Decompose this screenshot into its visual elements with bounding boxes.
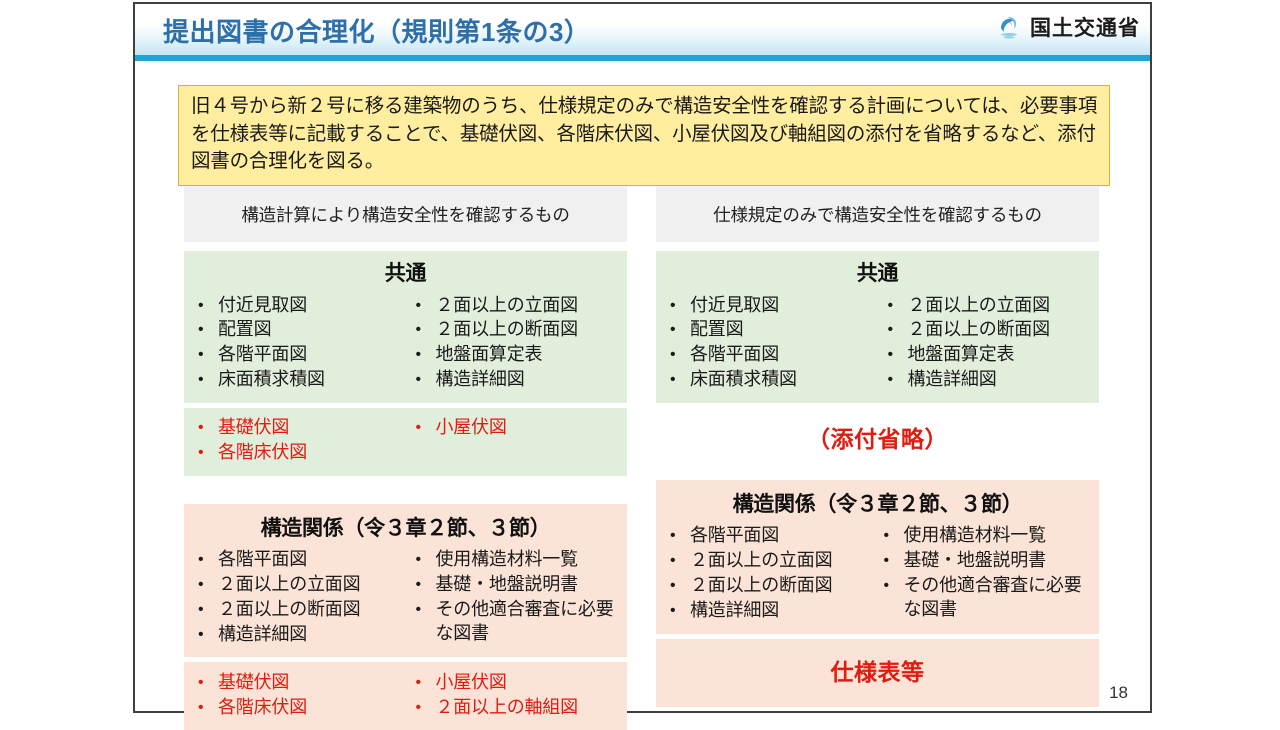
bullet-icon: •: [416, 294, 436, 317]
bullet-icon: •: [888, 318, 908, 341]
bullet-icon: •: [670, 524, 690, 547]
common-omitted-items-left: •基礎伏図 •各階床伏図: [184, 416, 406, 466]
list-item: •床面積求積図: [198, 368, 406, 393]
list-item: •その他適合審査に必要な図書: [416, 598, 628, 647]
mlit-logo-icon: [996, 14, 1022, 40]
common-block-title: 共通: [184, 251, 627, 289]
list-item: •その他適合審査に必要な図書: [884, 574, 1100, 623]
bullet-icon: •: [670, 549, 690, 572]
bullet-icon: •: [670, 294, 690, 317]
list-item: •２面以上の断面図: [670, 574, 878, 599]
common-items: •付近見取図 •配置図 •各階平面図 •床面積求積図 •２面以上の立面図 •２面…: [656, 289, 1099, 403]
common-block: 共通 •付近見取図 •配置図 •各階平面図 •床面積求積図 •２面以上の立面図 …: [656, 251, 1099, 403]
column-structural-calculation: 構造計算により構造安全性を確認するもの 共通 •付近見取図 •配置図 •各階平面…: [184, 186, 627, 730]
bullet-icon: •: [416, 343, 436, 366]
bullet-icon: •: [416, 416, 436, 439]
structure-items-right: •使用構造材料一覧 •基礎・地盤説明書 •その他適合審査に必要な図書: [406, 548, 628, 648]
spec-sheet-note: 仕様表等: [656, 653, 1099, 687]
bullet-icon: •: [888, 368, 908, 391]
header-accent-rule: [135, 55, 1150, 61]
list-item: •２面以上の立面図: [670, 549, 878, 574]
structure-items-left: •各階平面図 •２面以上の立面図 •２面以上の断面図 •構造詳細図: [184, 548, 406, 648]
common-omitted-items-right: •小屋伏図: [406, 416, 628, 466]
slide-canvas: 提出図書の合理化（規則第1条の3） 国土交通省 旧４号から新２号に移る建築物のう…: [133, 2, 1152, 713]
list-item: •基礎・地盤説明書: [884, 549, 1100, 574]
slide-body: 旧４号から新２号に移る建築物のうち、仕様規定のみで構造安全性を確認する計画につい…: [135, 62, 1150, 711]
omission-note: （添付省略）: [656, 420, 1099, 454]
bullet-icon: •: [888, 343, 908, 366]
page-title: 提出図書の合理化（規則第1条の3）: [163, 12, 590, 49]
list-item: •２面以上の立面図: [198, 573, 406, 598]
bullet-icon: •: [884, 549, 904, 572]
ministry-branding: 国土交通省: [996, 12, 1140, 42]
common-omitted-items: •基礎伏図 •各階床伏図 •小屋伏図: [184, 412, 627, 476]
list-item: •小屋伏図: [416, 416, 628, 441]
list-item: •２面以上の立面図: [888, 293, 1100, 318]
list-item: •２面以上の断面図: [888, 318, 1100, 343]
list-item: •各階床伏図: [198, 441, 406, 466]
bullet-icon: •: [198, 696, 218, 719]
common-items-left: •付近見取図 •配置図 •各階平面図 •床面積求積図: [656, 293, 878, 393]
bullet-icon: •: [670, 368, 690, 391]
structure-items-left: •各階平面図 •２面以上の立面図 •２面以上の断面図 •構造詳細図: [656, 524, 878, 624]
list-item: •使用構造材料一覧: [884, 524, 1100, 549]
list-item: •２面以上の断面図: [416, 318, 628, 343]
list-item: •構造詳細図: [670, 599, 878, 624]
bullet-icon: •: [198, 294, 218, 317]
list-item: •２面以上の立面図: [416, 293, 628, 318]
common-block-title: 共通: [656, 251, 1099, 289]
column-header: 仕様規定のみで構造安全性を確認するもの: [656, 186, 1099, 242]
bullet-icon: •: [884, 574, 904, 597]
list-item: •構造詳細図: [888, 368, 1100, 393]
bullet-icon: •: [198, 573, 218, 596]
common-block: 共通 •付近見取図 •配置図 •各階平面図 •床面積求積図 •２面以上の立面図 …: [184, 251, 627, 403]
structure-block-title: 構造関係（令３章２節、３節）: [656, 480, 1099, 520]
structure-omitted-items-right: •小屋伏図 •２面以上の軸組図: [406, 670, 628, 720]
bullet-icon: •: [198, 623, 218, 646]
bullet-icon: •: [198, 416, 218, 439]
ministry-name: 国土交通省: [1030, 12, 1140, 42]
bullet-icon: •: [416, 573, 436, 596]
list-item: •地盤面算定表: [888, 343, 1100, 368]
bullet-icon: •: [670, 318, 690, 341]
bullet-icon: •: [198, 441, 218, 464]
list-item: •各階床伏図: [198, 695, 406, 720]
column-header: 構造計算により構造安全性を確認するもの: [184, 186, 627, 242]
structure-items: •各階平面図 •２面以上の立面図 •２面以上の断面図 •構造詳細図 •使用構造材…: [184, 544, 627, 658]
common-omitted-block: •基礎伏図 •各階床伏図 •小屋伏図: [184, 408, 627, 476]
bullet-icon: •: [198, 318, 218, 341]
common-omission-note-block: （添付省略）: [656, 408, 1099, 468]
list-item: •地盤面算定表: [416, 343, 628, 368]
list-item: •構造詳細図: [416, 368, 628, 393]
bullet-icon: •: [198, 343, 218, 366]
bullet-icon: •: [198, 671, 218, 694]
bullet-icon: •: [888, 294, 908, 317]
common-items-left: •付近見取図 •配置図 •各階平面図 •床面積求積図: [184, 293, 406, 393]
structure-omitted-items: •基礎伏図 •各階床伏図 •小屋伏図 •２面以上の軸組図: [184, 666, 627, 730]
list-item: •付近見取図: [670, 293, 878, 318]
bullet-icon: •: [198, 598, 218, 621]
list-item: •基礎伏図: [198, 416, 406, 441]
list-item: •基礎伏図: [198, 670, 406, 695]
list-item: •構造詳細図: [198, 622, 406, 647]
list-item: •小屋伏図: [416, 670, 628, 695]
bullet-icon: •: [198, 368, 218, 391]
structure-block: 構造関係（令３章２節、３節） •各階平面図 •２面以上の立面図 •２面以上の断面…: [184, 504, 627, 658]
bullet-icon: •: [416, 368, 436, 391]
structure-spec-note-block: 仕様表等: [656, 639, 1099, 707]
bullet-icon: •: [670, 599, 690, 622]
list-item: •付近見取図: [198, 293, 406, 318]
structure-block-title: 構造関係（令３章２節、３節）: [184, 504, 627, 544]
common-items-right: •２面以上の立面図 •２面以上の断面図 •地盤面算定表 •構造詳細図: [878, 293, 1100, 393]
bullet-icon: •: [416, 548, 436, 571]
bullet-icon: •: [670, 574, 690, 597]
structure-items: •各階平面図 •２面以上の立面図 •２面以上の断面図 •構造詳細図 •使用構造材…: [656, 520, 1099, 634]
structure-block: 構造関係（令３章２節、３節） •各階平面図 •２面以上の立面図 •２面以上の断面…: [656, 480, 1099, 634]
list-item: •２面以上の断面図: [198, 598, 406, 623]
list-item: •配置図: [198, 318, 406, 343]
summary-callout-text: 旧４号から新２号に移る建築物のうち、仕様規定のみで構造安全性を確認する計画につい…: [191, 93, 1099, 176]
list-item: •各階平面図: [670, 524, 878, 549]
list-item: •配置図: [670, 318, 878, 343]
structure-omitted-items-left: •基礎伏図 •各階床伏図: [184, 670, 406, 720]
bullet-icon: •: [198, 548, 218, 571]
list-item: •使用構造材料一覧: [416, 548, 628, 573]
common-items: •付近見取図 •配置図 •各階平面図 •床面積求積図 •２面以上の立面図 •２面…: [184, 289, 627, 403]
slide-header: 提出図書の合理化（規則第1条の3） 国土交通省: [135, 4, 1150, 61]
structure-items-right: •使用構造材料一覧 •基礎・地盤説明書 •その他適合審査に必要な図書: [878, 524, 1100, 624]
page-number: 18: [1109, 683, 1128, 703]
list-item: •各階平面図: [198, 548, 406, 573]
list-item: •床面積求積図: [670, 368, 878, 393]
bullet-icon: •: [884, 524, 904, 547]
bullet-icon: •: [416, 696, 436, 719]
list-item: •基礎・地盤説明書: [416, 573, 628, 598]
comparison-columns: 構造計算により構造安全性を確認するもの 共通 •付近見取図 •配置図 •各階平面…: [184, 186, 1112, 730]
bullet-icon: •: [416, 671, 436, 694]
common-items-right: •２面以上の立面図 •２面以上の断面図 •地盤面算定表 •構造詳細図: [406, 293, 628, 393]
list-item: •各階平面図: [198, 343, 406, 368]
bullet-icon: •: [670, 343, 690, 366]
list-item: •２面以上の軸組図: [416, 695, 628, 720]
bullet-icon: •: [416, 598, 436, 621]
summary-callout: 旧４号から新２号に移る建築物のうち、仕様規定のみで構造安全性を確認する計画につい…: [178, 85, 1110, 186]
bullet-icon: •: [416, 318, 436, 341]
list-item: •各階平面図: [670, 343, 878, 368]
column-spec-provisions: 仕様規定のみで構造安全性を確認するもの 共通 •付近見取図 •配置図 •各階平面…: [656, 186, 1099, 730]
